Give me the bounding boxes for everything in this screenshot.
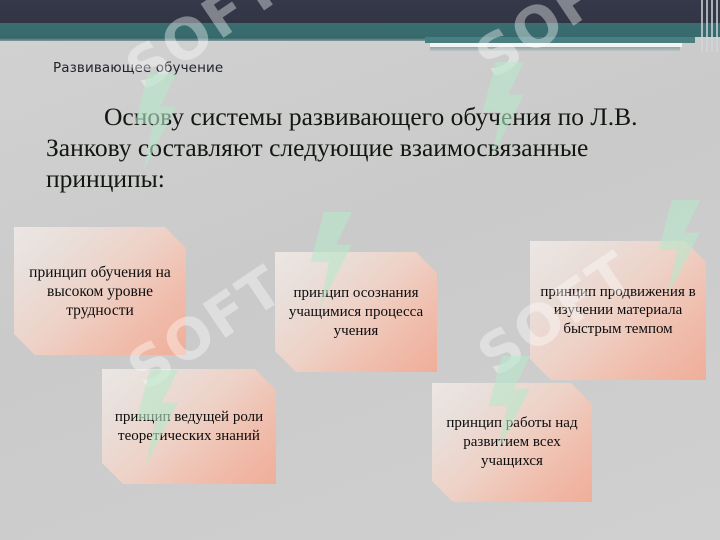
principle-box-label: принцип осознания учащимися процесса уче… — [275, 284, 437, 341]
principle-box-label: принцип ведущей роли теоретических знани… — [102, 408, 276, 446]
page-title: Основу системы развивающего обучения по … — [46, 101, 694, 194]
presentation-slide: Развивающее обучение Основу системы разв… — [0, 0, 720, 540]
slide-label: Развивающее обучение — [53, 60, 223, 76]
header-accent-grey-bar — [430, 47, 680, 51]
principle-box-label: принцип обучения на высоком уровне трудн… — [14, 263, 186, 320]
header-teal-underline — [0, 37, 425, 41]
principle-box-high-difficulty: принцип обучения на высоком уровне трудн… — [14, 227, 186, 355]
principle-box-fast-pace: принцип продвижения в изучении материала… — [530, 241, 706, 380]
header-teal-band — [0, 23, 720, 37]
principle-box-development-of-all: принцип работы над развитием всех учащих… — [432, 383, 592, 502]
principle-box-label: принцип работы над развитием всех учащих… — [432, 414, 592, 471]
principle-box-theoretical-knowledge: принцип ведущей роли теоретических знани… — [102, 369, 276, 484]
principle-box-awareness-of-learning: принцип осознания учащимися процесса уче… — [275, 252, 437, 372]
header-navy-band — [0, 0, 720, 23]
header-right-stripes — [698, 0, 720, 52]
principle-box-label: принцип продвижения в изучении материала… — [530, 283, 706, 339]
